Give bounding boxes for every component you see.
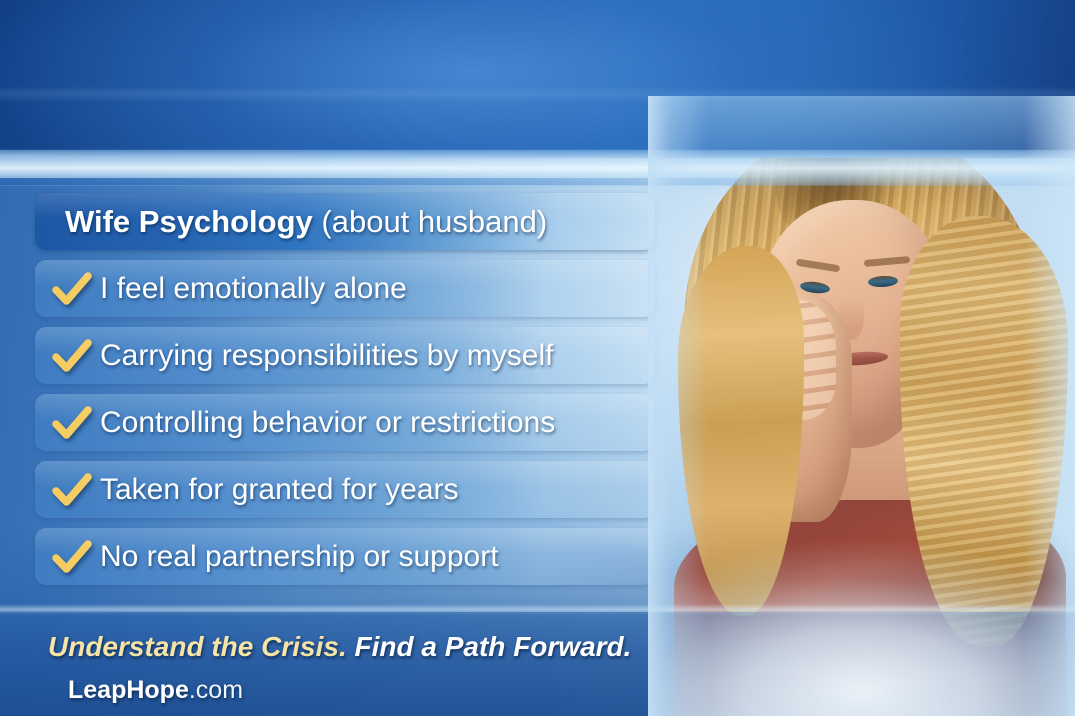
list-item: Carrying responsibilities by myself [35, 327, 655, 384]
check-icon [52, 403, 92, 443]
brand-name: LeapHope [68, 676, 189, 704]
checklist-heading-bold: Wife Psychology [65, 204, 313, 239]
list-item: Taken for granted for years [35, 461, 655, 518]
tagline-gold: Understand the Crisis. [48, 631, 347, 662]
photo-edge-blend [648, 96, 1075, 716]
check-icon [52, 269, 92, 309]
tagline-white: Find a Path Forward. [347, 631, 632, 662]
list-item: No real partnership or support [35, 528, 655, 585]
list-item-label: Taken for granted for years [100, 473, 459, 507]
checklist-heading-normal: (about husband) [313, 204, 547, 239]
brand-url[interactable]: LeapHope.com [68, 676, 243, 705]
check-icon [52, 470, 92, 510]
footer-tagline: Understand the Crisis. Find a Path Forwa… [48, 631, 631, 663]
check-icon [52, 537, 92, 577]
checklist-heading-bar: Wife Psychology (about husband) [35, 193, 655, 250]
list-item: I feel emotionally alone [35, 260, 655, 317]
list-item-label: Controlling behavior or restrictions [100, 406, 555, 440]
list-item: Controlling behavior or restrictions [35, 394, 655, 451]
list-item-label: No real partnership or support [100, 540, 499, 574]
infographic-poster: I Can't Stand My Husband! Coping with a … [0, 0, 1075, 716]
check-icon [52, 336, 92, 376]
checklist-heading-text: Wife Psychology (about husband) [35, 204, 547, 240]
checklist: Wife Psychology (about husband) I feel e… [35, 193, 655, 595]
list-item-label: I feel emotionally alone [100, 272, 407, 306]
list-item-label: Carrying responsibilities by myself [100, 339, 554, 373]
woman-photo [648, 96, 1075, 716]
brand-tld: .com [189, 676, 243, 704]
